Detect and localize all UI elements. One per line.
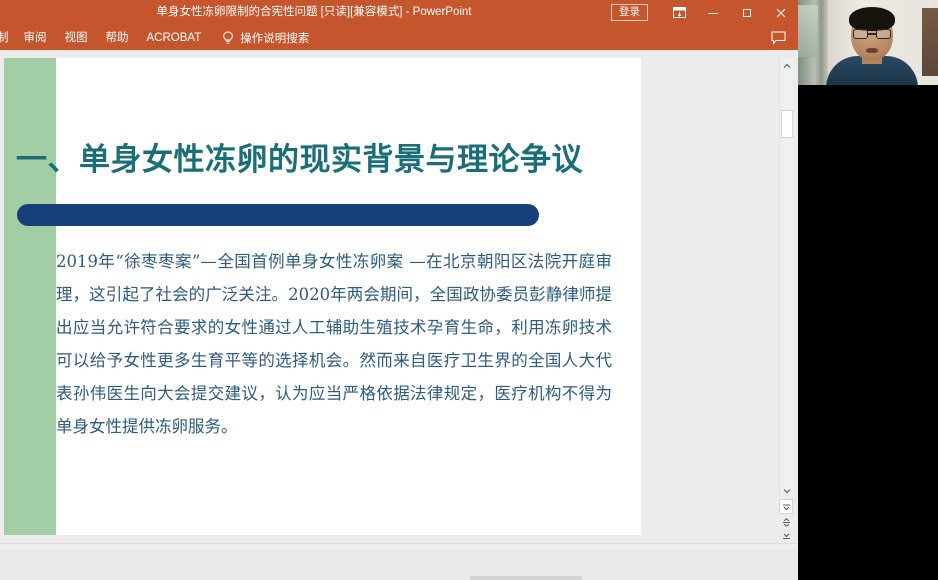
status-bar: [0, 543, 798, 580]
webcam-panel-filler: [798, 85, 938, 580]
menu-item-help[interactable]: 帮助: [97, 25, 138, 51]
zoom-slider[interactable]: [470, 576, 582, 580]
title-bar: 单身女性冻卵限制的合宪性问题 [只读][兼容模式] - PowerPoint 登…: [0, 0, 798, 25]
close-icon[interactable]: [764, 0, 798, 25]
menu-bar: 制 审阅 视图 帮助 ACROBAT 操作说明搜索: [0, 25, 798, 51]
comment-icon[interactable]: [768, 29, 788, 47]
powerpoint-window: 单身女性冻卵限制的合宪性问题 [只读][兼容模式] - PowerPoint 登…: [0, 0, 938, 580]
menu-item-view[interactable]: 视图: [56, 25, 97, 51]
previous-slide-button[interactable]: [779, 499, 793, 514]
webcam-door: [922, 8, 938, 76]
webcam-person-mouth: [866, 48, 878, 53]
scroll-thumb[interactable]: [781, 110, 793, 138]
vertical-scrollbar[interactable]: [779, 58, 793, 498]
sign-in-button[interactable]: 登录: [611, 4, 648, 22]
tell-me-search[interactable]: 操作说明搜索: [222, 30, 309, 46]
window-controls: 登录: [611, 0, 798, 25]
slide-canvas[interactable]: 一、单身女性冻卵的现实背景与理论争议 2019年“徐枣枣案”—全国首例单身女性冻…: [4, 58, 641, 535]
scroll-down-arrow[interactable]: [780, 483, 794, 498]
next-slide-button[interactable]: [779, 529, 793, 544]
slide-work-area: 一、单身女性冻卵的现实背景与理论争议 2019年“徐枣枣案”—全国首例单身女性冻…: [0, 51, 798, 543]
webcam-person-hair: [849, 7, 895, 31]
status-bar-inner: [0, 550, 798, 580]
slide-body-text[interactable]: 2019年“徐枣枣案”—全国首例单身女性冻卵案 —在北京朝阳区法院开庭审理，这引…: [56, 245, 612, 443]
tell-me-label: 操作说明搜索: [240, 30, 309, 46]
show-all-slides-button[interactable]: [779, 515, 793, 530]
menu-item-clipped[interactable]: 制: [0, 25, 15, 51]
minimize-icon[interactable]: [696, 0, 730, 25]
lightbulb-icon: [222, 31, 234, 45]
slide-accent-bar[interactable]: [17, 204, 539, 226]
restore-icon[interactable]: [730, 0, 764, 25]
glasses-icon: [853, 29, 891, 39]
scroll-up-arrow[interactable]: [780, 58, 794, 73]
slide-title[interactable]: 一、单身女性冻卵的现实背景与理论争议: [16, 134, 636, 179]
ribbon-display-options-icon[interactable]: [662, 0, 696, 25]
slide-left-accent-band: [4, 58, 56, 535]
menu-item-review[interactable]: 审阅: [15, 25, 56, 51]
webcam-window: [798, 5, 818, 57]
menu-item-acrobat[interactable]: ACROBAT: [138, 25, 211, 51]
webcam-panel: [798, 0, 938, 580]
webcam-video-feed[interactable]: [798, 0, 938, 85]
